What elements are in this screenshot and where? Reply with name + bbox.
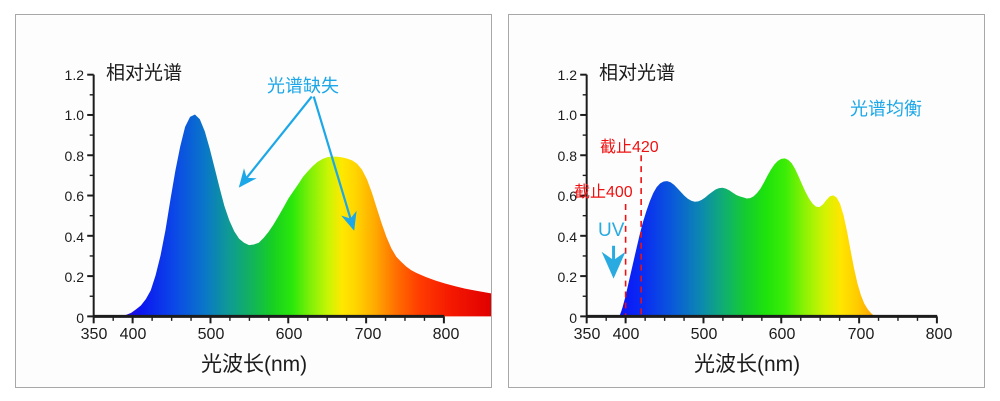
- cutoff-400-label: 截止400: [574, 185, 633, 201]
- y-tick-label-1_0: 1.0: [545, 108, 577, 122]
- chart-title: 相对光谱: [106, 64, 182, 83]
- x-tick-label-350: 350: [567, 327, 607, 343]
- x-axis-title: 光波长(nm): [694, 354, 800, 375]
- y-tick-label-0_6: 0.6: [545, 189, 577, 203]
- x-axis-title: 光波长(nm): [201, 354, 307, 375]
- x-tick-label-700: 700: [841, 327, 881, 343]
- spectrum-balanced-label: 光谱均衡: [850, 100, 922, 118]
- x-tick-label-500: 500: [191, 327, 231, 343]
- figure-root: 1.2 1.0 0.8 0.6 0.4 0.2 0 350 400 500 60…: [0, 0, 1000, 401]
- y-tick-label-1_2: 1.2: [545, 68, 577, 82]
- y-tick-label-0_2: 0.2: [52, 270, 84, 284]
- x-tick-label-500: 500: [684, 327, 724, 343]
- x-tick-label-400: 400: [606, 327, 646, 343]
- y-tick-label-1_0: 1.0: [52, 108, 84, 122]
- x-tick-label-800: 800: [426, 327, 466, 343]
- y-tick-label-0_6: 0.6: [52, 189, 84, 203]
- y-tick-label-0_8: 0.8: [545, 149, 577, 163]
- y-tick-label-1_2: 1.2: [52, 68, 84, 82]
- panel-left: 1.2 1.0 0.8 0.6 0.4 0.2 0 350 400 500 60…: [15, 14, 492, 388]
- y-tick-label-0_8: 0.8: [52, 149, 84, 163]
- x-tick-label-400: 400: [113, 327, 153, 343]
- spectrum-area-left: [94, 114, 491, 316]
- y-tick-label-0: 0: [545, 311, 577, 325]
- y-tick-label-0_4: 0.4: [545, 230, 577, 244]
- x-tick-label-800: 800: [919, 327, 959, 343]
- panel-right: 1.2 1.0 0.8 0.6 0.4 0.2 0 350 400 500 60…: [508, 14, 985, 388]
- spectrum-missing-label: 光谱缺失: [267, 77, 339, 95]
- cutoff-420-label: 截止420: [600, 140, 659, 156]
- x-tick-label-700: 700: [348, 327, 388, 343]
- x-tick-label-600: 600: [269, 327, 309, 343]
- spectrum-area-right: [587, 158, 984, 316]
- y-tick-label-0_2: 0.2: [545, 270, 577, 284]
- y-tick-label-0: 0: [52, 311, 84, 325]
- spectrum-missing-arrow-left: [240, 97, 312, 187]
- uv-label: UV: [598, 221, 624, 240]
- y-tick-label-0_4: 0.4: [52, 230, 84, 244]
- x-tick-label-350: 350: [74, 327, 114, 343]
- x-tick-label-600: 600: [762, 327, 802, 343]
- chart-title: 相对光谱: [599, 64, 675, 83]
